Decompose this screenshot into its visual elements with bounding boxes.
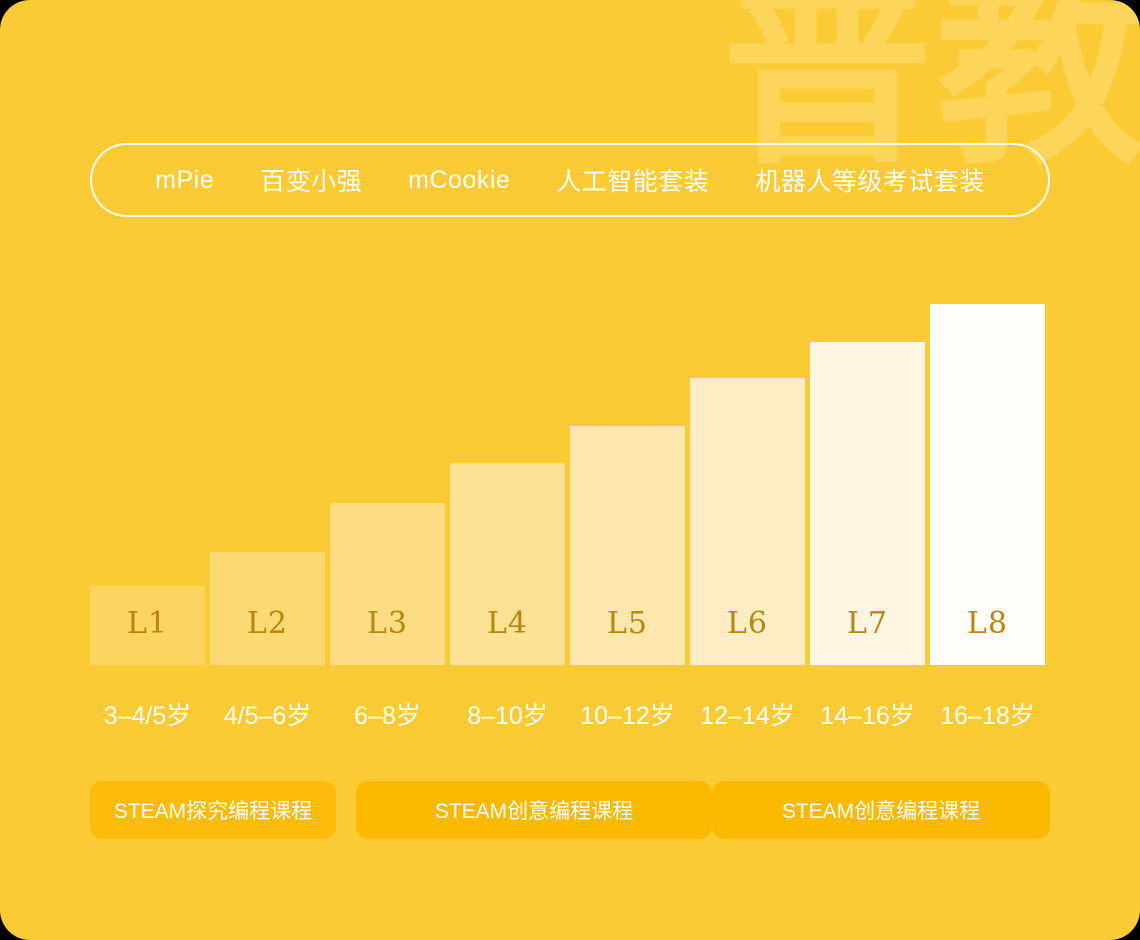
age-label-1: 3–4/5岁 bbox=[90, 696, 205, 732]
age-label-2: 4/5–6岁 bbox=[210, 696, 325, 732]
product-item-3[interactable]: mCookie bbox=[408, 166, 510, 195]
bar-l4[interactable]: L4 bbox=[450, 463, 565, 665]
product-item-4[interactable]: 人工智能套装 bbox=[556, 162, 709, 198]
age-label-3: 6–8岁 bbox=[330, 696, 445, 732]
bar-label: L1 bbox=[127, 606, 168, 665]
product-item-1[interactable]: mPie bbox=[155, 166, 214, 195]
bar-l2[interactable]: L2 bbox=[210, 552, 325, 665]
bar-label: L3 bbox=[367, 606, 408, 665]
bar-l7[interactable]: L7 bbox=[810, 342, 925, 665]
age-label-6: 12–14岁 bbox=[690, 696, 805, 732]
course-button-row: STEAM探究编程课程STEAM创意编程课程STEAM创意编程课程 bbox=[90, 781, 1050, 839]
age-label-7: 14–16岁 bbox=[810, 696, 925, 732]
bar-label: L2 bbox=[247, 606, 288, 665]
bar-l6[interactable]: L6 bbox=[690, 378, 805, 665]
bar-l3[interactable]: L3 bbox=[330, 503, 445, 665]
product-item-2[interactable]: 百变小强 bbox=[260, 162, 362, 198]
bar-label: L8 bbox=[967, 606, 1008, 665]
bar-label: L6 bbox=[727, 606, 768, 665]
course-button-3[interactable]: STEAM创意编程课程 bbox=[712, 781, 1050, 839]
bar-l8[interactable]: L8 bbox=[930, 304, 1045, 665]
age-range-row: 3–4/5岁4/5–6岁6–8岁8–10岁10–12岁12–14岁14–16岁1… bbox=[90, 696, 1050, 736]
course-level-card: 普教 mPie百变小强mCookie人工智能套装机器人等级考试套装 L1L2L3… bbox=[0, 0, 1140, 940]
bar-label: L7 bbox=[847, 606, 888, 665]
bar-l5[interactable]: L5 bbox=[570, 426, 685, 665]
product-item-5[interactable]: 机器人等级考试套装 bbox=[755, 162, 985, 198]
product-series-bar: mPie百变小强mCookie人工智能套装机器人等级考试套装 bbox=[90, 143, 1050, 217]
course-button-2[interactable]: STEAM创意编程课程 bbox=[356, 781, 712, 839]
bar-label: L5 bbox=[607, 606, 648, 665]
bar-l1[interactable]: L1 bbox=[90, 586, 205, 665]
bar-label: L4 bbox=[487, 606, 528, 665]
age-label-8: 16–18岁 bbox=[930, 696, 1045, 732]
level-bar-chart: L1L2L3L4L5L6L7L8 bbox=[90, 300, 1050, 665]
age-label-4: 8–10岁 bbox=[450, 696, 565, 732]
age-label-5: 10–12岁 bbox=[570, 696, 685, 732]
course-button-1[interactable]: STEAM探究编程课程 bbox=[90, 781, 336, 839]
